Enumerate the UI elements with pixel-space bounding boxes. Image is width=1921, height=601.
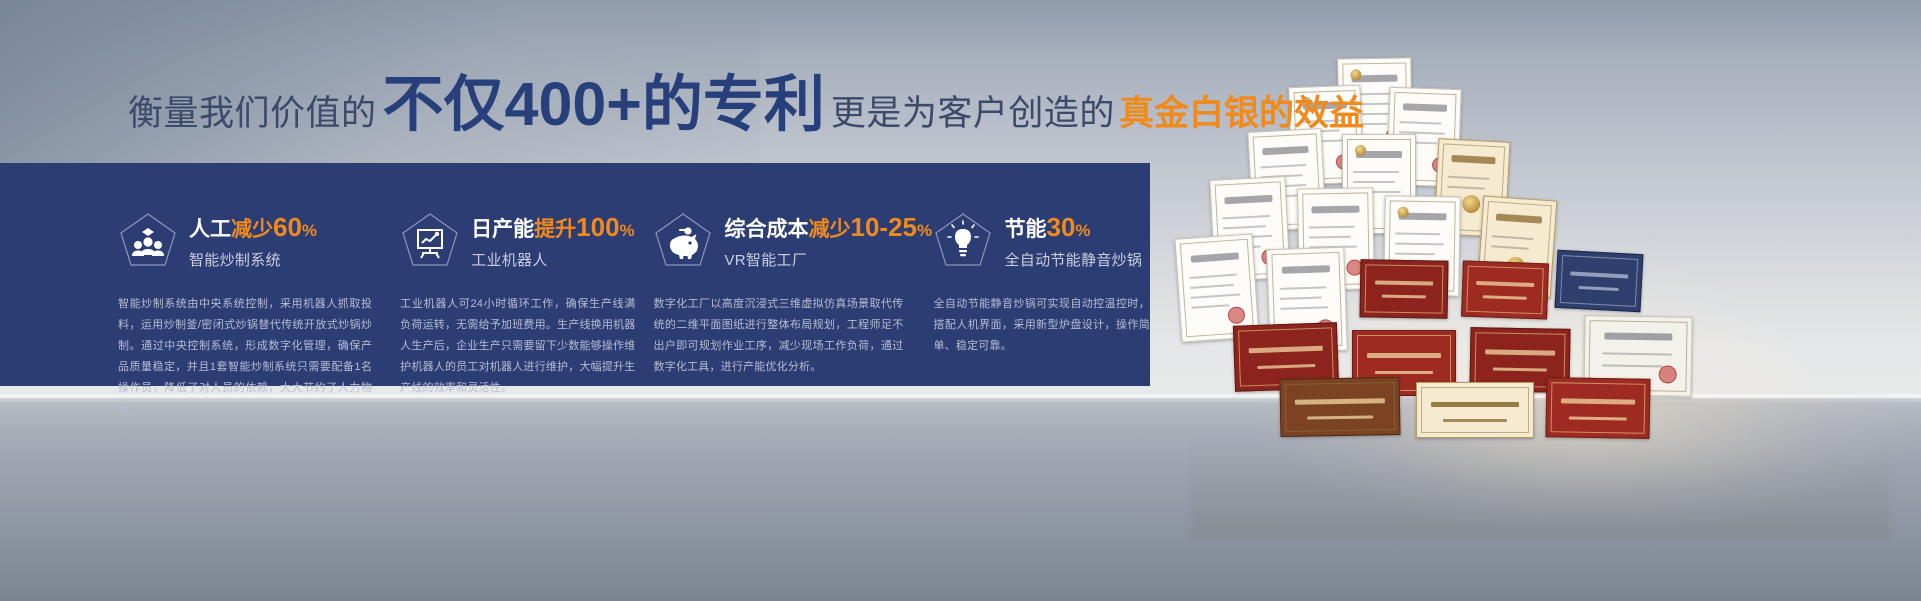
feature-subtitle: VR智能工厂 (724, 249, 932, 270)
feature-card-capacity: 日产能提升100% 工业机器人 工业机器人可24小时循环工作，确保生产线满负荷运… (400, 163, 635, 386)
banner-stage: 衡量我们价值的 不仅400+的专利 更是为客户创造的 真金白银的效益 (0, 0, 1921, 601)
feature-card-cost: 综合成本减少10-25% VR智能工厂 数字化工厂以高度沉浸式三维虚拟仿真场景取… (653, 163, 903, 386)
chart-easel-icon (400, 211, 460, 273)
feature-title-number: 10-25 (850, 212, 917, 242)
feature-title-prefix: 节能 (1004, 218, 1046, 241)
people-group-icon (118, 211, 178, 273)
feature-heading-text: 综合成本减少10-25% VR智能工厂 (724, 214, 932, 269)
feature-title-prefix: 人工 (189, 218, 231, 241)
feature-subtitle: 智能炒制系统 (189, 249, 317, 270)
feature-title-prefix: 综合成本 (724, 218, 808, 241)
feature-title-number: 60 (273, 212, 302, 242)
feature-header: 人工减少60% 智能炒制系统 (118, 211, 372, 273)
feature-title-accent: 减少 (808, 218, 850, 241)
headline-middle: 更是为客户创造的 (831, 85, 1115, 136)
piggy-bank-icon (653, 211, 713, 273)
features-columns: 人工减少60% 智能炒制系统 智能炒制系统由中央系统控制，采用机器人抓取投料，运… (0, 163, 1150, 386)
feature-title-unit: % (1075, 221, 1090, 240)
lightbulb-icon (933, 211, 993, 273)
feature-header: 综合成本减少10-25% VR智能工厂 (653, 211, 903, 273)
feature-header: 日产能提升100% 工业机器人 (400, 211, 635, 273)
feature-body: 数字化工厂以高度沉浸式三维虚拟仿真场景取代传统的二维平面图纸进行整体布局规划，工… (653, 294, 903, 378)
feature-title-unit: % (620, 221, 635, 240)
feature-title-number: 100 (576, 212, 619, 242)
feature-title-accent: 减少 (231, 218, 273, 241)
feature-title: 日产能提升100% (471, 214, 635, 241)
feature-heading-text: 人工减少60% 智能炒制系统 (189, 214, 317, 269)
feature-body: 工业机器人可24小时循环工作，确保生产线满负荷运转，无需给予加班费用。生产线换用… (400, 294, 635, 400)
feature-heading-text: 节能30% 全自动节能静音炒锅 (1004, 214, 1142, 269)
feature-header: 节能30% 全自动节能静音炒锅 (933, 211, 1150, 273)
feature-title-unit: % (302, 221, 317, 240)
page-title: 衡量我们价值的 不仅400+的专利 更是为客户创造的 真金白银的效益 (128, 74, 1364, 136)
feature-title: 人工减少60% (189, 214, 317, 241)
feature-subtitle: 工业机器人 (471, 249, 635, 270)
headline-emphasis: 不仅400+的专利 (383, 74, 825, 135)
certificate-plaque (1555, 250, 1644, 312)
feature-title-number: 30 (1046, 212, 1075, 242)
feature-heading-text: 日产能提升100% 工业机器人 (471, 214, 635, 269)
feature-title-prefix: 日产能 (471, 218, 534, 241)
feature-body: 全自动节能静音炒锅可实现自动控温控时，搭配人机界面，采用新型炉盘设计，操作简单、… (933, 294, 1150, 357)
feature-title: 综合成本减少10-25% (724, 214, 932, 241)
feature-subtitle: 全自动节能静音炒锅 (1004, 249, 1142, 270)
headline-lead: 衡量我们价值的 (128, 85, 377, 136)
certificate-plaque (1360, 259, 1449, 319)
feature-card-labor: 人工减少60% 智能炒制系统 智能炒制系统由中央系统控制，采用机器人抓取投料，运… (118, 163, 372, 386)
feature-body: 智能炒制系统由中央系统控制，采用机器人抓取投料，运用炒制釜/密闭式炒锅替代传统开… (118, 294, 372, 421)
certificate-plaque (1461, 261, 1549, 320)
feature-title-unit: % (917, 221, 932, 240)
feature-card-energy: 节能30% 全自动节能静音炒锅 全自动节能静音炒锅可实现自动控温控时，搭配人机界… (933, 163, 1150, 386)
feature-title: 节能30% (1004, 214, 1142, 241)
headline-accent: 真金白银的效益 (1119, 85, 1364, 136)
certificate-reflection (1190, 420, 1890, 540)
feature-title-accent: 提升 (534, 218, 576, 241)
